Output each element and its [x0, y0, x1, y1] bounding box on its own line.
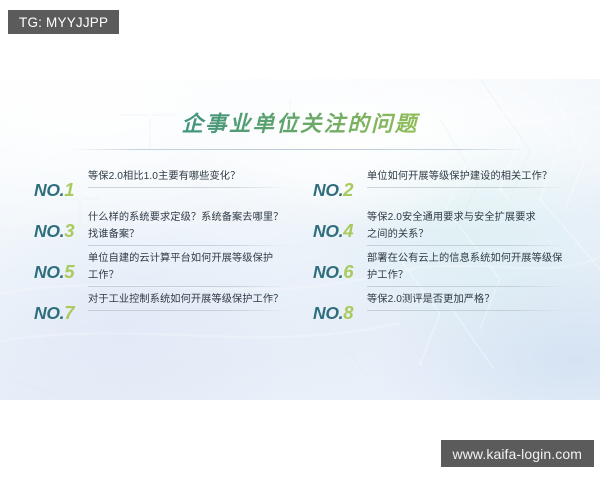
question-number-prefix-4: NO. — [313, 221, 343, 241]
question-item-3: NO.3 什么样的系统要求定级？系统备案去哪里？ 找谁备案？ — [34, 209, 289, 250]
question-number-digit-1: 1 — [64, 179, 74, 200]
question-item-2: NO.2 单位如何开展等级保护建设的相关工作？ — [313, 168, 568, 209]
tg-watermark-badge: TG: MYYJJPP — [8, 10, 119, 34]
question-item-7: NO.7 对于工业控制系统如何开展等级保护工作？ — [34, 291, 289, 332]
tg-watermark-label: TG: MYYJJPP — [19, 15, 108, 30]
question-body-6: 部署在公有云上的信息系统如何开展等级保 护工作？ — [365, 252, 568, 287]
question-text-line: 单位自建的云计算平台如何开展等级保护 — [88, 252, 289, 269]
question-item-8: NO.8 等保2.0测评是否更加严格？ — [313, 291, 568, 332]
question-number-prefix-7: NO. — [34, 303, 64, 323]
question-body-2: 单位如何开展等级保护建设的相关工作？ — [365, 170, 568, 188]
question-underline-1 — [88, 187, 289, 188]
question-underline-2 — [367, 187, 568, 188]
question-text-line: 等保2.0测评是否更加严格？ — [367, 293, 568, 310]
question-number-prefix-8: NO. — [313, 303, 343, 323]
question-text-line: 对于工业控制系统如何开展等级保护工作？ — [88, 293, 289, 310]
question-item-4: NO.4 等保2.0安全通用要求与安全扩展要求 之间的关系？ — [313, 209, 568, 250]
question-number-digit-6: 6 — [343, 261, 353, 282]
question-number-prefix-5: NO. — [34, 262, 64, 282]
question-item-1: NO.1 等保2.0相比1.0主要有哪些变化？ — [34, 168, 289, 209]
question-number-digit-5: 5 — [64, 261, 74, 282]
question-text-line: 部署在公有云上的信息系统如何开展等级保 — [367, 252, 568, 269]
question-text-line: 等保2.0相比1.0主要有哪些变化？ — [88, 170, 289, 187]
question-body-3: 什么样的系统要求定级？系统备案去哪里？ 找谁备案？ — [86, 211, 289, 246]
question-number-5: NO.5 — [34, 252, 86, 282]
question-number-2: NO.2 — [313, 170, 365, 200]
question-number-1: NO.1 — [34, 170, 86, 200]
question-body-5: 单位自建的云计算平台如何开展等级保护 工作？ — [86, 252, 289, 287]
question-text-line: 护工作？ — [367, 269, 568, 286]
question-underline-7 — [88, 310, 289, 311]
question-number-7: NO.7 — [34, 293, 86, 323]
question-underline-8 — [367, 310, 568, 311]
question-text-line: 什么样的系统要求定级？系统备案去哪里？ — [88, 211, 289, 228]
question-text-line: 工作？ — [88, 269, 289, 286]
question-body-7: 对于工业控制系统如何开展等级保护工作？ — [86, 293, 289, 311]
question-underline-6 — [367, 286, 568, 287]
question-number-digit-2: 2 — [343, 179, 353, 200]
question-underline-3 — [88, 245, 289, 246]
question-underline-5 — [88, 286, 289, 287]
question-number-6: NO.6 — [313, 252, 365, 282]
question-number-prefix-6: NO. — [313, 262, 343, 282]
question-text-line: 之间的关系？ — [367, 228, 568, 245]
question-number-digit-4: 4 — [343, 220, 353, 241]
slide-title: 企事业单位关注的问题 — [0, 107, 600, 138]
questions-grid: NO.1 等保2.0相比1.0主要有哪些变化？ NO.2 单位如何开展等级保护建… — [34, 168, 568, 332]
question-item-6: NO.6 部署在公有云上的信息系统如何开展等级保 护工作？ — [313, 250, 568, 291]
question-item-5: NO.5 单位自建的云计算平台如何开展等级保护 工作？ — [34, 250, 289, 291]
question-text-line: 等保2.0安全通用要求与安全扩展要求 — [367, 211, 568, 228]
question-body-8: 等保2.0测评是否更加严格？ — [365, 293, 568, 311]
url-watermark-badge: www.kaifa-login.com — [441, 440, 595, 467]
question-number-4: NO.4 — [313, 211, 365, 241]
question-body-4: 等保2.0安全通用要求与安全扩展要求 之间的关系？ — [365, 211, 568, 246]
question-number-prefix-3: NO. — [34, 221, 64, 241]
question-number-digit-7: 7 — [64, 302, 74, 323]
question-text-line: 找谁备案？ — [88, 228, 289, 245]
url-watermark-label: www.kaifa-login.com — [453, 446, 583, 462]
question-body-1: 等保2.0相比1.0主要有哪些变化？ — [86, 170, 289, 188]
title-divider — [72, 149, 528, 150]
slide-image: 企事业单位关注的问题 NO.1 等保2.0相比1.0主要有哪些变化？ NO.2 … — [0, 79, 600, 400]
question-text-line: 单位如何开展等级保护建设的相关工作？ — [367, 170, 568, 187]
question-number-digit-8: 8 — [343, 302, 353, 323]
question-number-prefix-1: NO. — [34, 180, 64, 200]
question-number-3: NO.3 — [34, 211, 86, 241]
question-underline-4 — [367, 245, 568, 246]
question-number-digit-3: 3 — [64, 220, 74, 241]
question-number-prefix-2: NO. — [313, 180, 343, 200]
question-number-8: NO.8 — [313, 293, 365, 323]
